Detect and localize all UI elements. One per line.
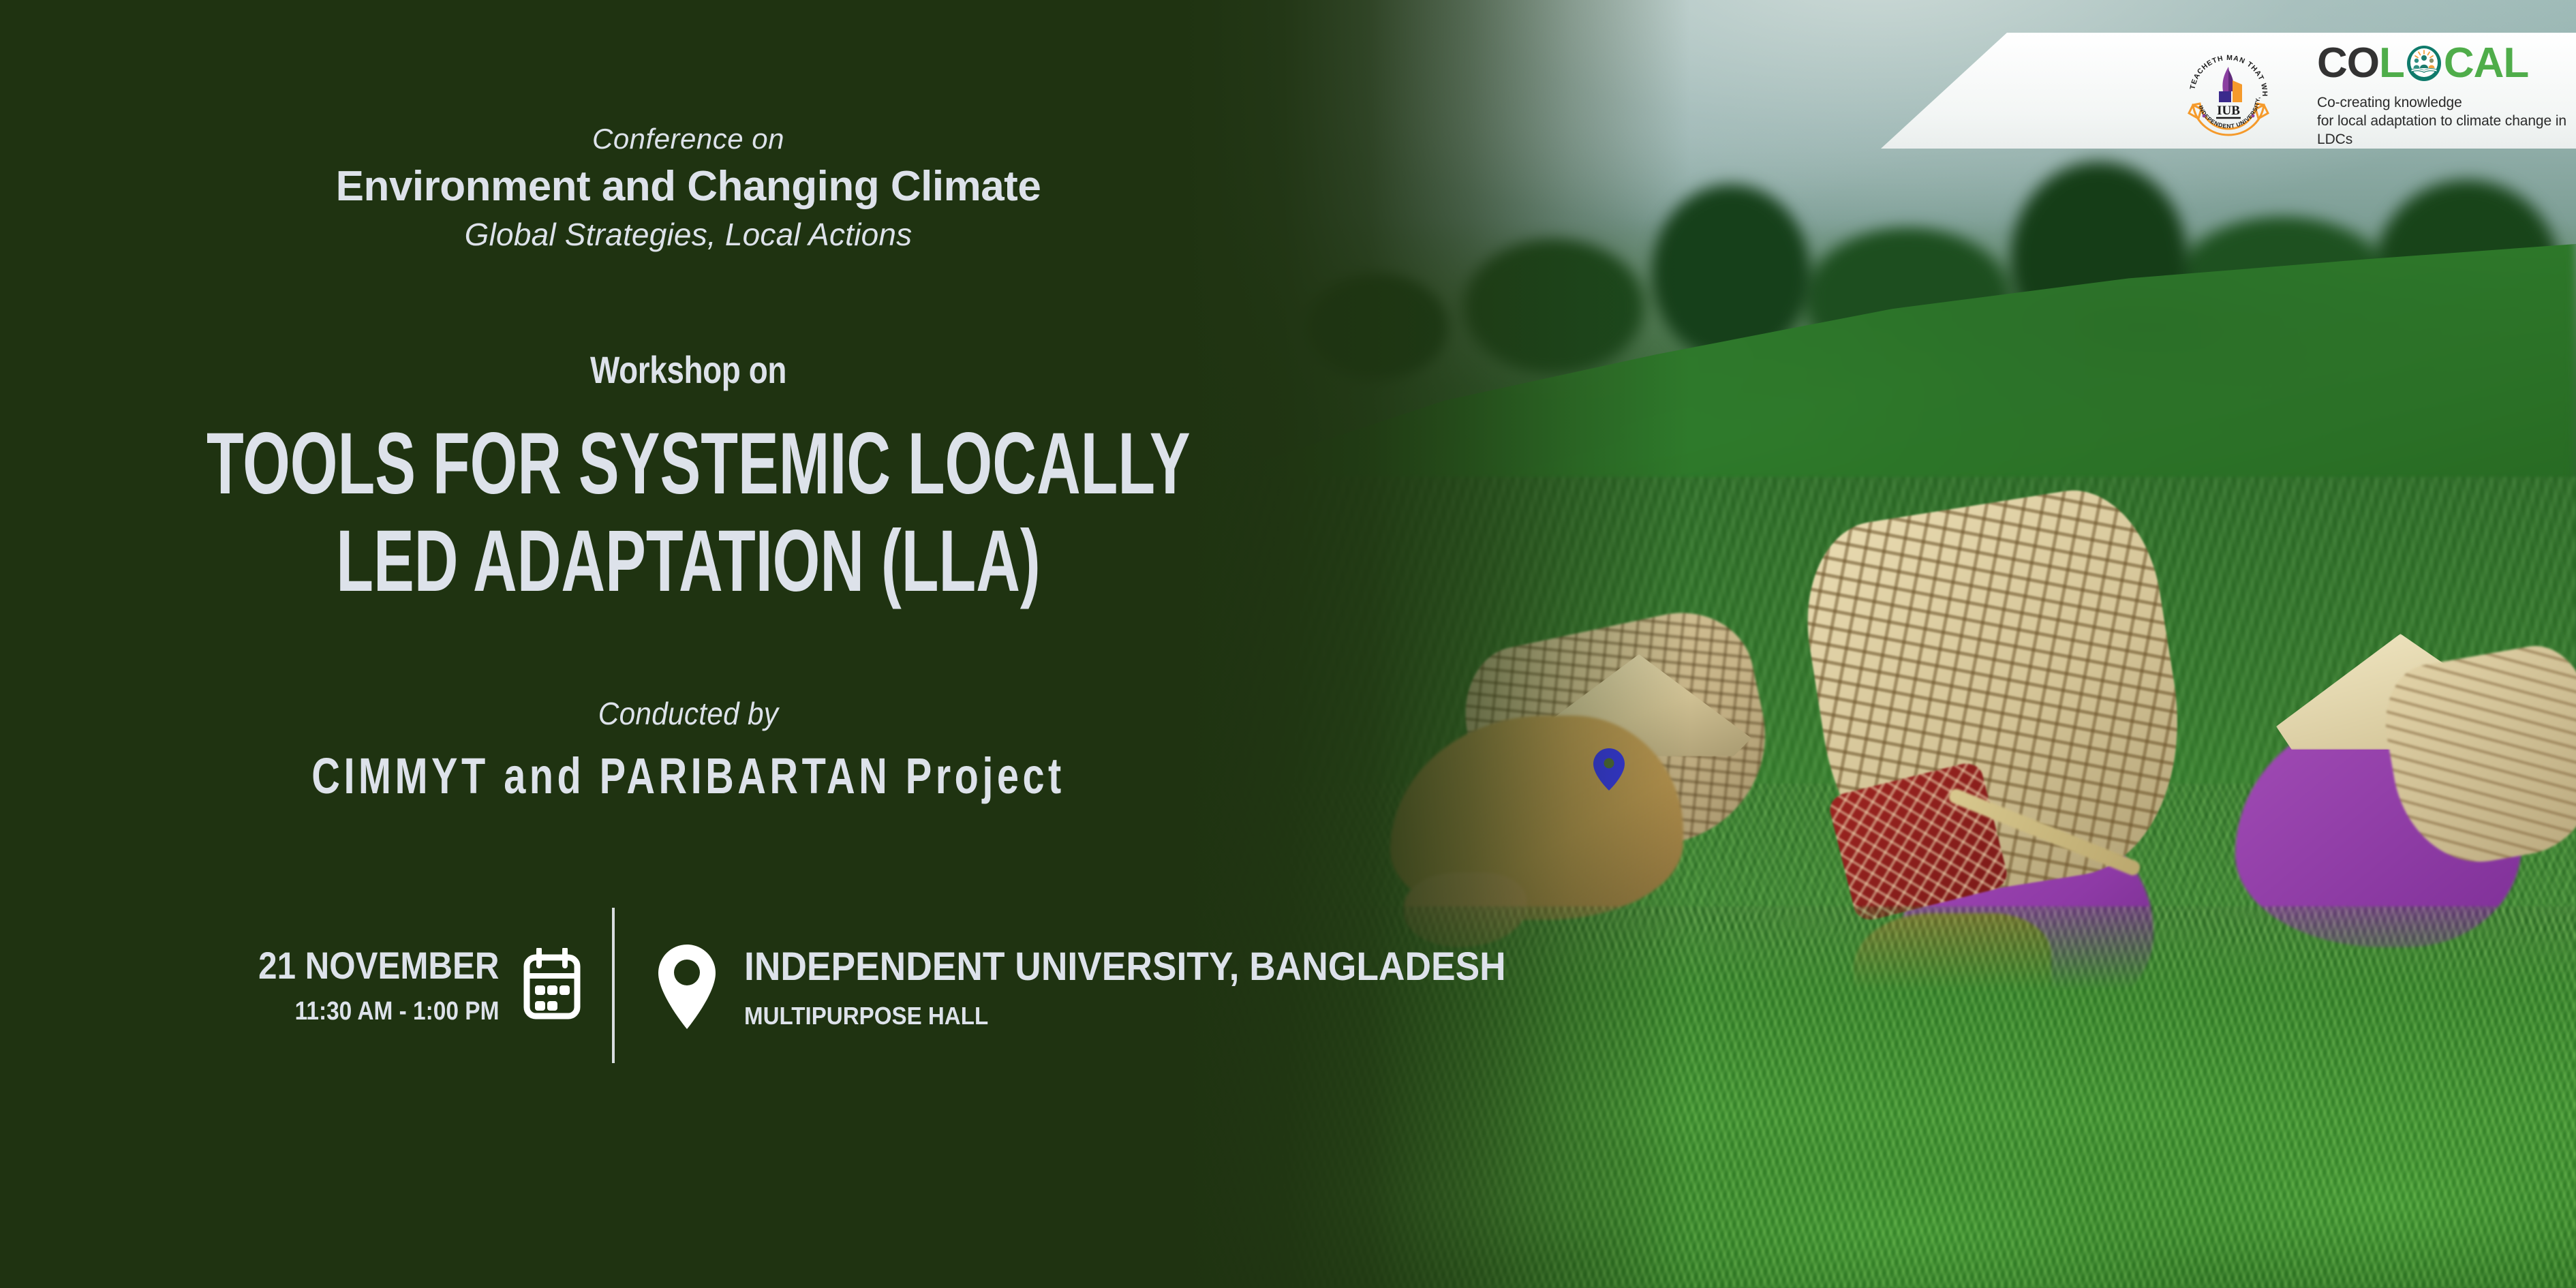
event-time: 11:30 AM - 1:00 PM [258,997,499,1026]
colocal-cal: CAL [2444,42,2528,85]
venue-room: MULTIPURPOSE HALL [744,1002,1506,1030]
workshop-eyebrow: Workshop on [124,348,1253,392]
iub-crest-logo: TEACHETH MAN THAT WHICH HE KNEW NOT IUB … [2181,42,2276,138]
date-time-group: 21 NOVEMBER 11:30 AM - 1:00 PM [102,906,586,1063]
colocal-l: L [2379,42,2404,85]
colocal-wordmark: CO L [2317,41,2576,86]
venue-group: INDEPENDENT UNIVERSITY, BANGLADESH MULTI… [654,906,1572,1063]
map-pin-icon [654,943,720,1030]
workshop-title: TOOLS FOR SYSTEMIC LOCALLY LED ADAPTATIO… [206,415,1170,611]
colocal-tagline-line1: Co-creating knowledge [2317,94,2576,112]
conference-eyebrow: Conference on [0,123,1377,155]
colocal-tagline-line2: for local adaptation to climate change i… [2317,112,2576,149]
colocal-co: CO [2317,42,2379,85]
conducted-by-block: Conducted by CIMMYT and PARIBARTAN Proje… [0,695,1377,805]
workshop-block: Workshop on TOOLS FOR SYSTEMIC LOCALLY L… [0,348,1377,611]
event-date: 21 NOVEMBER [258,943,499,987]
event-details-bar: 21 NOVEMBER 11:30 AM - 1:00 PM [0,906,1377,1077]
date-time-text: 21 NOVEMBER 11:30 AM - 1:00 PM [226,943,499,1026]
conducted-by-organizations: CIMMYT and PARIBARTAN Project [151,747,1225,805]
conducted-by-eyebrow: Conducted by [55,695,1321,732]
workshop-title-line2: LED ADAPTATION (LLA) [206,512,1170,610]
workshop-title-line1: TOOLS FOR SYSTEMIC LOCALLY [206,415,1170,512]
colocal-logo: CO L [2317,41,2576,149]
venue-name: INDEPENDENT UNIVERSITY, BANGLADESH [744,944,1506,990]
svg-text:IUB: IUB [2217,104,2240,118]
venue-text: INDEPENDENT UNIVERSITY, BANGLADESH MULTI… [744,940,1572,1030]
conference-title: Environment and Changing Climate [0,162,1377,211]
content-column: Conference on Environment and Changing C… [0,0,1377,1288]
conference-subtitle: Global Strategies, Local Actions [0,216,1377,253]
people-book-emblem-icon [2406,45,2442,82]
colocal-tagline: Co-creating knowledge for local adaptati… [2317,94,2576,149]
details-divider [612,908,615,1063]
conference-block: Conference on Environment and Changing C… [0,123,1377,253]
event-banner: Conference on Environment and Changing C… [0,0,2576,1288]
calendar-icon [518,948,586,1022]
